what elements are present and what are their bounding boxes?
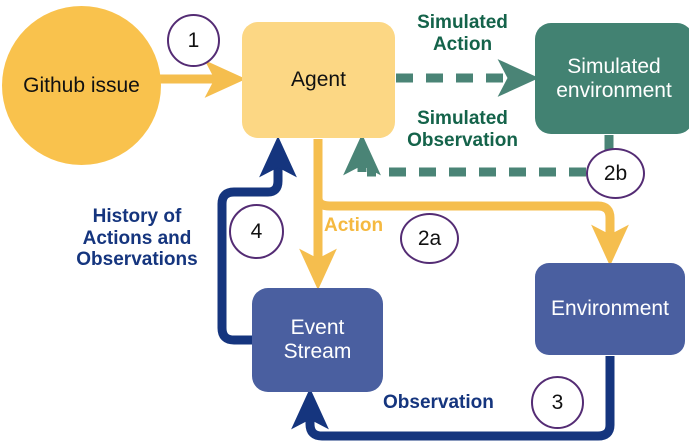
edge-label-observation: Observation [383, 392, 494, 414]
node-simulated-environment[interactable]: Simulated environment [535, 23, 689, 134]
node-github-issue[interactable]: Github issue [2, 6, 161, 165]
edge-label-simulated-observation: Simulated Observation [385, 108, 540, 151]
node-agent[interactable]: Agent [242, 22, 395, 138]
node-event-stream[interactable]: Event Stream [252, 288, 383, 392]
step-marker-2a-label: 2a [418, 227, 441, 251]
node-github-issue-label: Github issue [23, 74, 140, 98]
edge-label-history: History of Actions and Observations [56, 206, 218, 271]
edge-label-simulated-action: Simulated Action [390, 12, 535, 55]
node-environment[interactable]: Environment [535, 263, 685, 355]
step-marker-4-label: 4 [251, 220, 263, 244]
step-marker-2a: 2a [400, 213, 459, 264]
node-agent-label: Agent [291, 68, 346, 92]
diagram-canvas: Github issue Agent Simulated environment… [0, 0, 689, 445]
node-environment-label: Environment [551, 297, 669, 321]
step-marker-1-label: 1 [188, 29, 200, 53]
step-marker-3: 3 [531, 376, 584, 429]
node-event-stream-label: Event Stream [284, 316, 352, 363]
step-marker-3-label: 3 [552, 391, 564, 415]
step-marker-2b: 2b [586, 148, 645, 199]
edge-label-action: Action [324, 215, 383, 237]
node-simulated-environment-label: Simulated environment [556, 55, 672, 102]
step-marker-2b-label: 2b [604, 162, 627, 186]
step-marker-4: 4 [229, 204, 284, 259]
step-marker-1: 1 [167, 14, 220, 67]
